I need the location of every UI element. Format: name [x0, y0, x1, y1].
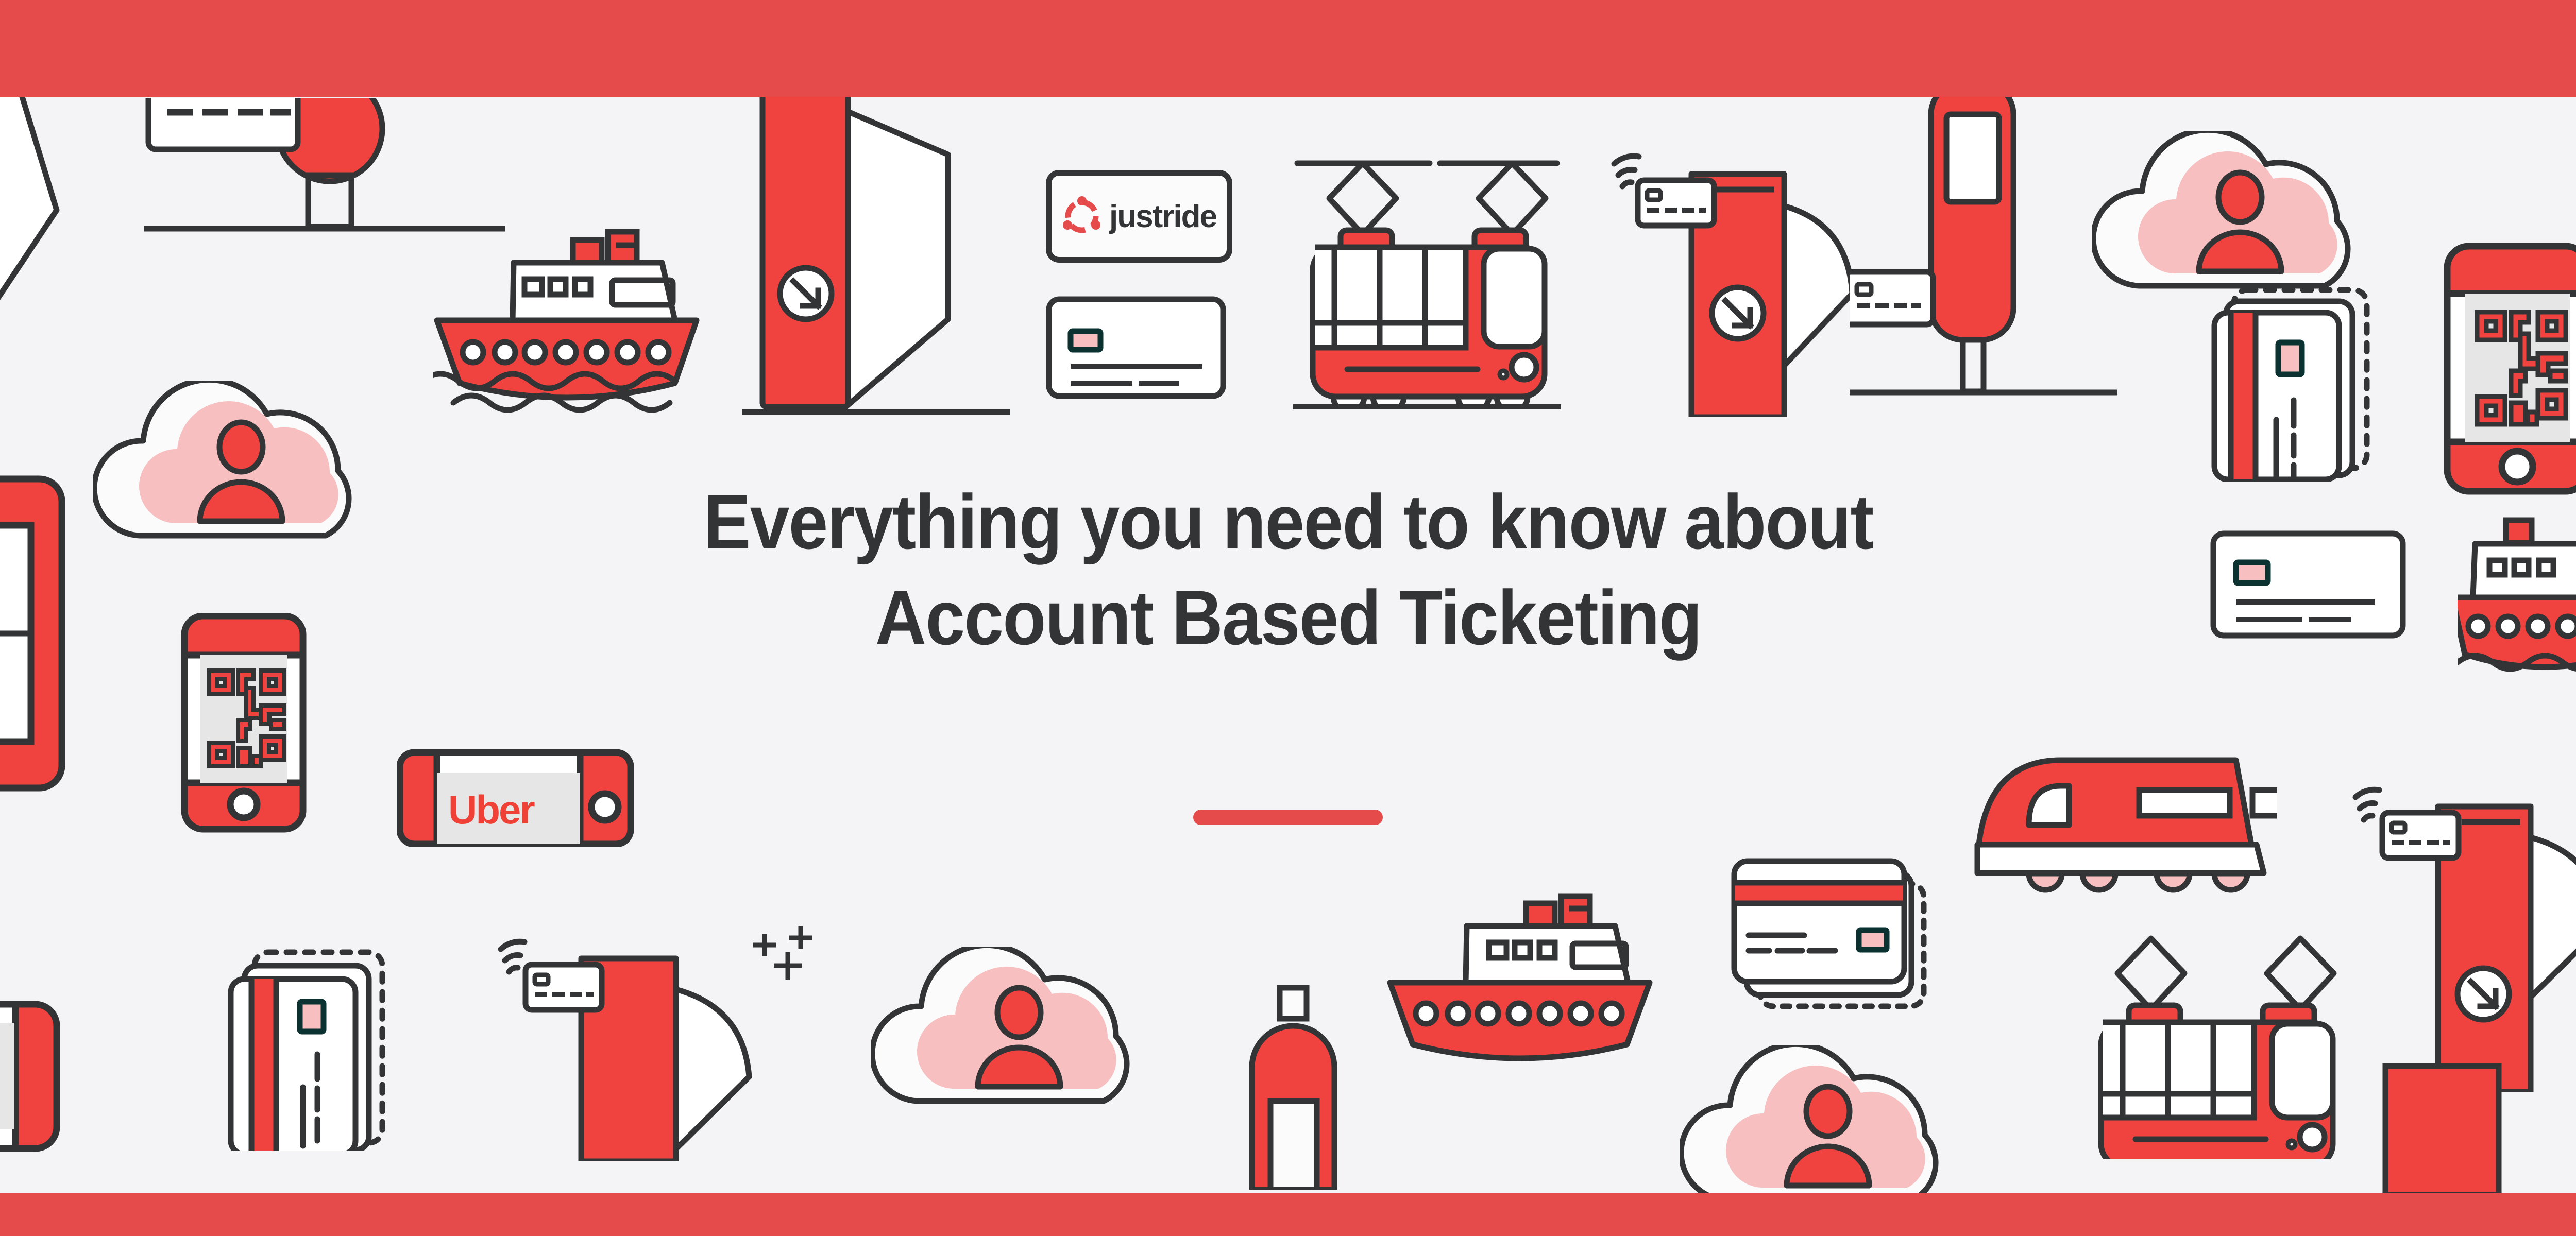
- cloud-account-bottom: [871, 947, 1159, 1117]
- gate-bottomright: [2365, 1061, 2576, 1195]
- ferry-top: [433, 206, 701, 422]
- landscape-phone-bottomleft: [0, 999, 88, 1154]
- contactless-card-tap-bottom: [474, 924, 762, 1161]
- contactless-card-tap: [1584, 139, 1852, 417]
- tram-top: [1293, 152, 1561, 409]
- gate-centerleft: [742, 93, 1010, 417]
- uber-wordmark: Uber: [448, 786, 534, 833]
- credit-card-stack: [1721, 855, 1937, 1025]
- ferry-right: [2458, 515, 2576, 680]
- cloud-account-left: [93, 381, 381, 551]
- bottom-accent-bar: [0, 1193, 2576, 1236]
- uber-phone: Uber: [397, 749, 634, 847]
- contactless-card-tap-right: [2329, 772, 2576, 1092]
- travel-card-right: [2210, 530, 2406, 639]
- gate-topleft: [0, 92, 155, 401]
- title-divider: [1193, 810, 1383, 825]
- train-right: [1968, 736, 2277, 901]
- justride-logo-card: justride: [1046, 170, 1232, 263]
- cloud-account-bottomright: [1680, 1045, 1968, 1215]
- bollard: [1236, 984, 1350, 1190]
- hero-banner: justride: [0, 0, 2576, 1236]
- sparkles: [742, 919, 840, 997]
- card-stack-bottomleft: [222, 935, 392, 1151]
- cloud-account-topright: [2092, 131, 2380, 301]
- ferry-bottom: [1386, 881, 1654, 1087]
- headline-line-2: Account Based Ticketing: [103, 570, 2473, 665]
- tram-bottom: [2081, 927, 2349, 1159]
- page-title: Everything you need to know about Accoun…: [0, 474, 2576, 665]
- travel-card-small: [1046, 296, 1226, 399]
- qr-phone-topright: [2442, 242, 2576, 500]
- top-accent-bar: [0, 0, 2576, 97]
- landscape-phone-topleft: [0, 474, 93, 793]
- headline-line-1: Everything you need to know about: [103, 474, 2473, 570]
- card-stack-topright: [2210, 281, 2380, 482]
- qr-phone-left: [180, 613, 309, 834]
- validator-pole-center: [1850, 93, 2117, 422]
- justride-wordmark: justride: [1109, 198, 1216, 235]
- justride-mark-icon: [1062, 196, 1102, 236]
